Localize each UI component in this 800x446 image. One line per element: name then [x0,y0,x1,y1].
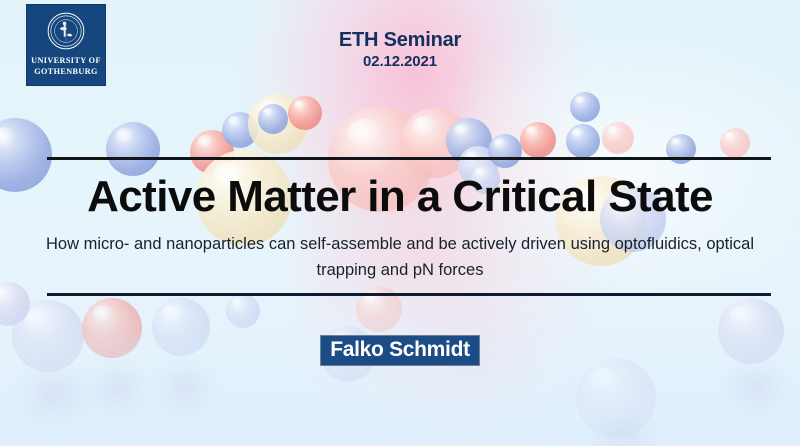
reflection-bottom-left-a [18,372,90,428]
author-name-badge: Falko Schmidt [321,336,479,365]
reflection-bottom-left-c [156,368,214,416]
divider-above-title [47,157,771,160]
event-name: ETH Seminar [0,29,800,52]
sphere-red-right-edge [520,122,556,158]
slide-header: ETH Seminar 02.12.2021 [0,29,800,71]
sphere-blue-right-mid [566,124,600,158]
sphere-red-right-mid [602,122,634,154]
reflection-bottom-left-b [88,368,148,418]
reflection-bottom-far [726,368,788,414]
author-row: Falko Schmidt [0,336,800,365]
svg-text:········: ········ [63,16,69,19]
sphere-red-far-right [720,128,750,158]
presentation-title-slide: ········ ········ UNIVERSITY OF GOTHENBU… [0,0,800,446]
divider-below-subtitle [47,293,771,296]
sphere-red-top-cluster [288,96,322,130]
sphere-blue-cluster-c [488,134,522,168]
sphere-blue-right-upper [570,92,600,122]
slide-title: Active Matter in a Critical State [0,172,800,222]
sphere-blue-top-left-tiny [258,104,288,134]
sphere-blue-upper-left [106,122,160,176]
slide-subtitle: How micro- and nanoparticles can self-as… [30,231,770,283]
event-date: 02.12.2021 [0,52,800,71]
